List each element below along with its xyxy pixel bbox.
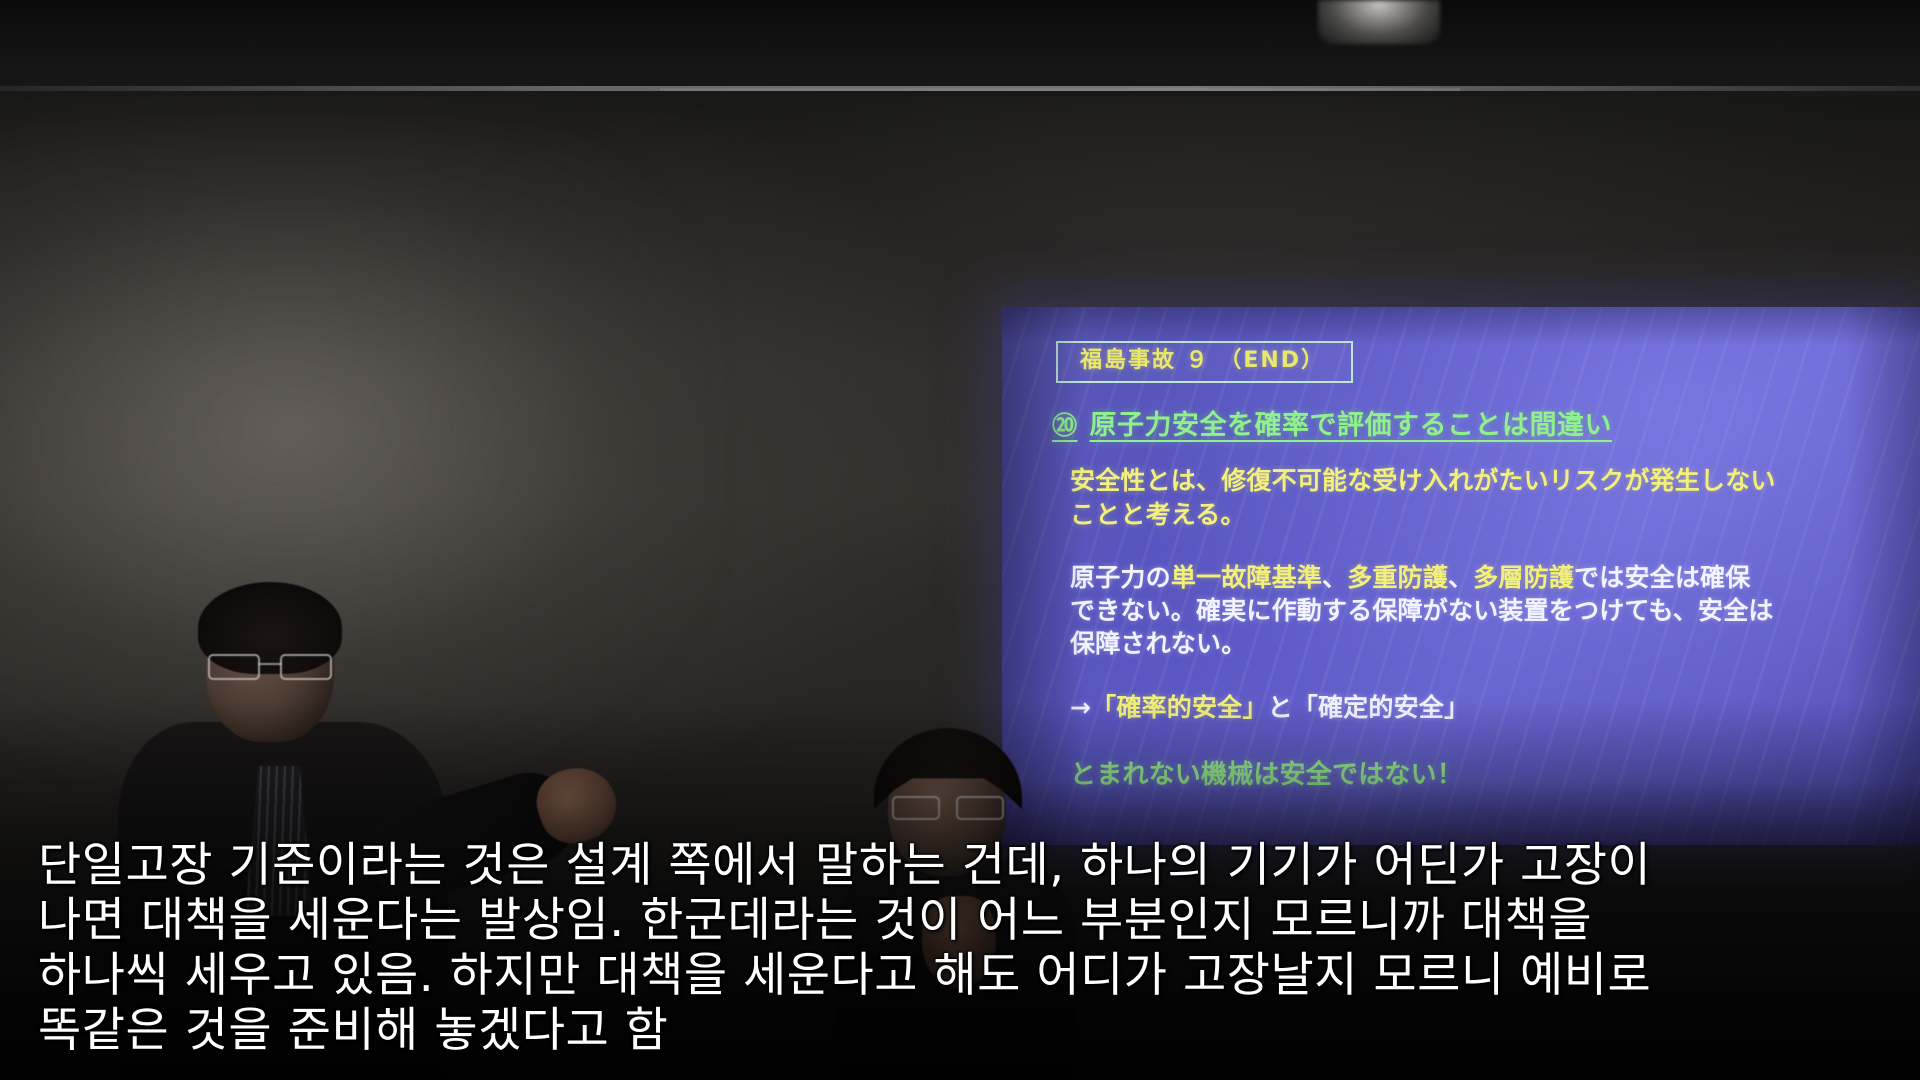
subtitle-line: 나면 대책을 세운다는 발상임. 한군데라는 것이 어느 부분인지 모르니까 대…: [38, 893, 1838, 948]
p2-seg1: 原子力の: [1070, 563, 1171, 592]
slide-heading-text: 原子力安全を確率で評価することは間違い: [1090, 410, 1613, 441]
paragraph-2-line-3: 保障されない。: [1070, 627, 1910, 660]
slide-heading-number: ⑳: [1052, 411, 1078, 440]
subtitle-line: 단일고장 기준이라는 것은 설계 쪽에서 말하는 건데, 하나의 기기가 어딘가…: [38, 838, 1838, 893]
ceiling: [0, 0, 1920, 96]
p2-seg7: では安全は確保: [1574, 563, 1750, 592]
man-glasses-bridge: [258, 663, 282, 665]
paragraph-1-line-2: ことと考える。: [1070, 498, 1910, 531]
slide-paragraph-1: 安全性とは、修復不可能な受け入れがたいリスクが発生しない ことと考える。: [1070, 464, 1910, 531]
p2-seg6: 多層防護: [1473, 563, 1574, 592]
p2-seg4: 多重防護: [1347, 563, 1448, 592]
subtitle-overlay: 단일고장 기준이라는 것은 설계 쪽에서 말하는 건데, 하나의 기기가 어딘가…: [38, 834, 1838, 1070]
p2-seg5: 、: [1448, 563, 1473, 592]
subtitle-line: 똑같은 것을 준비해 놓겠다고 함: [38, 1003, 1838, 1058]
ceiling-seam: [660, 88, 1460, 91]
slide-section-tag: 福島事故 ９ （END）: [1056, 341, 1353, 383]
man-glasses-icon: [208, 654, 332, 678]
subtitle-line: 하나씩 세우고 있음. 하지만 대책을 세운다고 해도 어디가 고장날지 모르니…: [38, 948, 1838, 1003]
p2-seg3: 、: [1322, 563, 1347, 592]
paragraph-1-line-1: 安全性とは、修復不可能な受け入れがたいリスクが発生しない: [1070, 464, 1910, 497]
video-frame: 福島事故 ９ （END） ⑳原子力安全を確率で評価することは間違い 安全性とは、…: [0, 0, 1920, 1080]
paragraph-2-line-2: できない。確実に作動する保障がない装置をつけても、安全は: [1070, 594, 1910, 627]
p2-seg2: 単一故障基準: [1171, 563, 1322, 592]
slide-paragraph-2: 原子力の単一故障基準、多重防護、多層防護では安全は確保 できない。確実に作動する…: [1070, 561, 1910, 661]
slide-heading: ⑳原子力安全を確率で評価することは間違い: [1052, 403, 1894, 442]
ceiling-light-fixture: [1318, 0, 1440, 44]
paragraph-2-line-1: 原子力の単一故障基準、多重防護、多層防護では安全は確保: [1070, 561, 1910, 594]
